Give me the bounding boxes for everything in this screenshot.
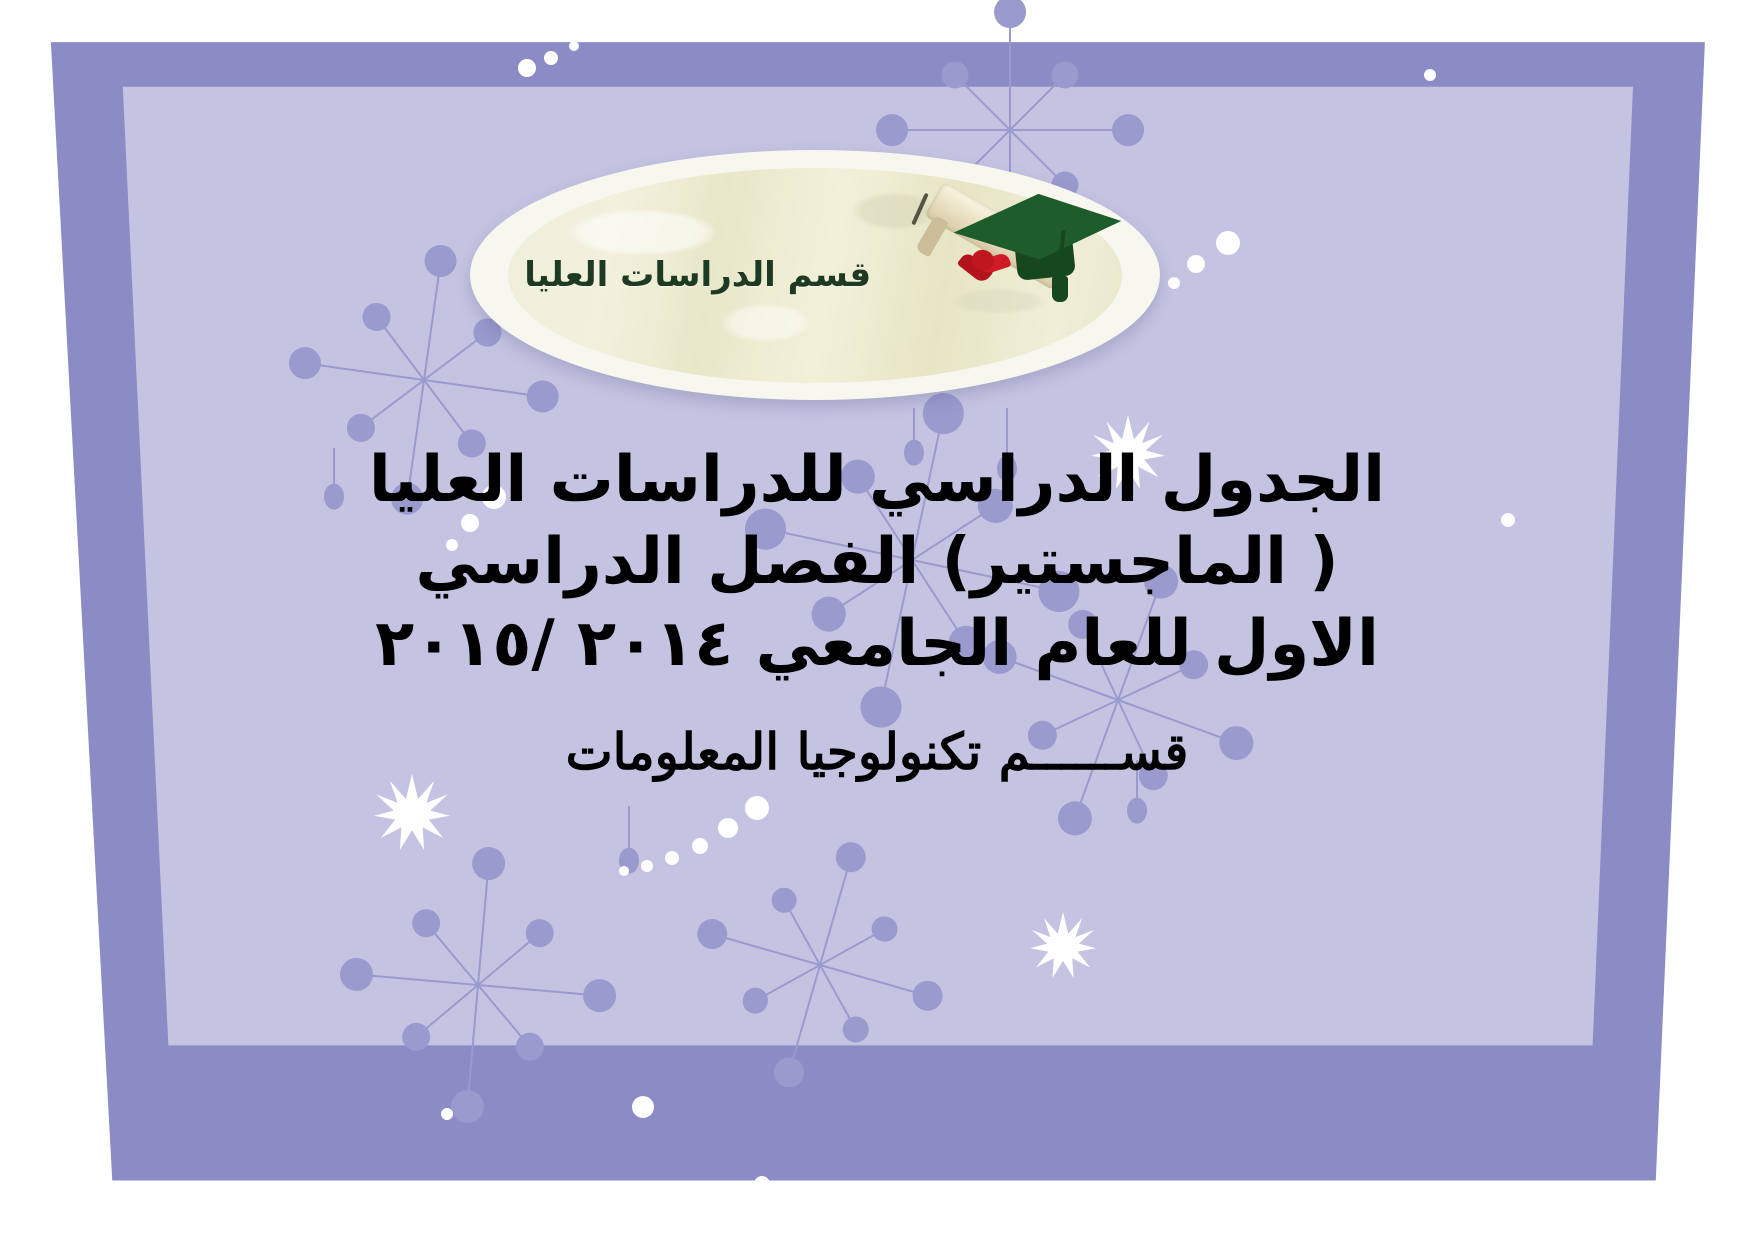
title-line-3: الاول للعام الجامعي ٢٠١٤ /٢٠١٥ (180, 604, 1574, 686)
cap-tassel-end (1052, 276, 1068, 302)
logo-caption: قسم الدراسات العليا (470, 255, 925, 295)
title-line-2: ( الماجستير) الفصل الدراسي (180, 522, 1574, 604)
department-subtitle: قســــــم تكنولوجيا المعلومات (180, 722, 1574, 781)
page-title: الجدول الدراسي للدراسات العليا ( الماجست… (180, 440, 1574, 686)
diploma-edge (915, 215, 949, 258)
snowflake-node (994, 0, 1026, 28)
pen-stroke-decor (911, 193, 928, 226)
slide-canvas: قسم الدراسات العليا الجدول الدراسي للدرا… (0, 0, 1754, 1240)
graduation-cap-icon (908, 164, 1138, 354)
title-line-1: الجدول الدراسي للدراسات العليا (180, 440, 1574, 522)
department-logo: قسم الدراسات العليا (470, 150, 1160, 400)
